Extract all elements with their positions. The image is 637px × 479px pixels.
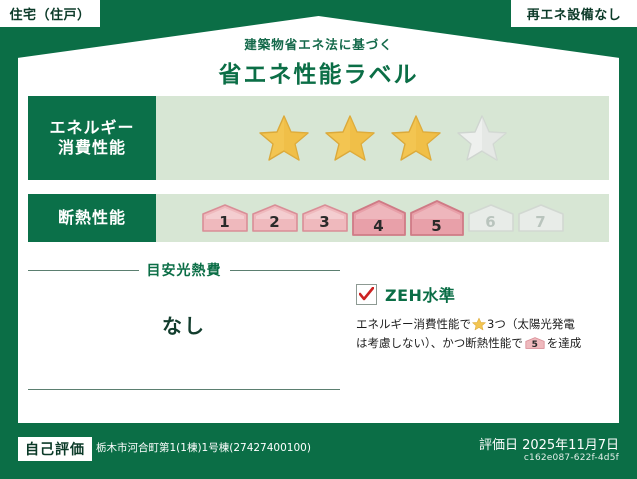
page-title: 省エネ性能ラベル: [18, 55, 619, 89]
utility-cost-bottom-rule: [28, 389, 340, 390]
insulation-badge-3: 3: [301, 203, 349, 233]
insulation-performance-label: 断熱性能: [28, 194, 156, 242]
document-id: c162e087-622f-4d5f: [524, 453, 619, 463]
zeh-heading-row: ZEH水準: [356, 282, 609, 306]
tag-renewable-equipment: 再エネ設備なし: [511, 0, 637, 27]
zeh-title: ZEH水準: [385, 282, 455, 306]
label-subtitle: 建築物省エネ法に基づく: [18, 34, 619, 53]
insulation-badge-3-label: 3: [301, 215, 349, 230]
energy-performance-label: エネルギー 消費性能: [28, 96, 156, 180]
zeh-desc-star-count: 3つ（太陽光発電: [487, 317, 575, 331]
tag-building-type: 住宅（住戸）: [0, 0, 100, 27]
label-content: エネルギー 消費性能: [28, 96, 609, 418]
star-empty-icon-4: [456, 113, 508, 163]
self-evaluation-badge: 自己評価: [18, 437, 92, 461]
star-filled-icon-2: [324, 113, 376, 163]
insulation-badge-5: 5: [409, 199, 465, 237]
zeh-desc-part2: は考慮しない）、かつ断熱性能で: [356, 336, 523, 350]
insulation-badge-1: 1: [201, 203, 249, 233]
energy-performance-row: エネルギー 消費性能: [28, 96, 609, 180]
star-filled-icon-1: [258, 113, 310, 163]
inline-insulation-badge-label: 5: [525, 341, 545, 350]
evaluation-date: 評価日 2025年11月7日: [479, 434, 619, 453]
heading-rule-right: [230, 270, 341, 271]
inline-star-icon: [472, 317, 486, 331]
energy-label-line2: 消費性能: [58, 138, 126, 158]
label-footer: 自己評価 栃木市河合町第1(1棟)1号棟(27427400100) 評価日 20…: [0, 423, 637, 479]
star-filled-icon-3: [390, 113, 442, 163]
zeh-section: ZEH水準 エネルギー消費性能で3つ（太陽光発電は考慮しない）、かつ断熱性能で5…: [356, 282, 609, 353]
property-address: 栃木市河合町第1(1棟)1号棟(27427400100): [96, 440, 311, 455]
insulation-badge-6: 6: [467, 203, 515, 233]
energy-label-line1: エネルギー: [49, 118, 134, 138]
insulation-badge-2-label: 2: [251, 215, 299, 230]
insulation-badge-6-label: 6: [467, 215, 515, 230]
insulation-badge-1-label: 1: [201, 215, 249, 230]
inline-insulation-badge: 5: [525, 336, 545, 350]
energy-label-card: 住宅（住戸） 再エネ設備なし 建築物省エネ法に基づく 省エネ性能ラベル エネルギ…: [0, 0, 637, 479]
utility-cost-heading: 目安光熱費: [147, 260, 222, 280]
zeh-checkbox[interactable]: [356, 284, 377, 305]
utility-cost-section: 目安光熱費 なし: [28, 256, 340, 418]
insulation-performance-row: 断熱性能 1 2: [28, 194, 609, 242]
insulation-badge-7-label: 7: [517, 215, 565, 230]
check-icon: [359, 287, 374, 302]
zeh-desc-part1: エネルギー消費性能で: [356, 317, 471, 331]
insulation-badge-4: 4: [351, 199, 407, 237]
insulation-level-scale: 1 2 3: [156, 194, 609, 242]
insulation-badge-2: 2: [251, 203, 299, 233]
utility-cost-heading-row: 目安光熱費: [28, 260, 340, 280]
insulation-badge-4-label: 4: [351, 219, 407, 234]
insulation-badge-7: 7: [517, 203, 565, 233]
energy-star-rating: [156, 96, 609, 180]
heading-rule-left: [28, 270, 139, 271]
label-title-block: 建築物省エネ法に基づく 省エネ性能ラベル: [18, 34, 619, 89]
insulation-badge-5-label: 5: [409, 219, 465, 234]
zeh-description: エネルギー消費性能で3つ（太陽光発電は考慮しない）、かつ断熱性能で5を達成: [356, 315, 609, 353]
lower-section: 目安光熱費 なし ZEH水準 エネルギー消費性能で3つ（太陽光発電は考慮しな: [28, 256, 609, 418]
utility-cost-value: なし: [28, 310, 340, 339]
zeh-desc-part3: を達成: [547, 336, 582, 350]
